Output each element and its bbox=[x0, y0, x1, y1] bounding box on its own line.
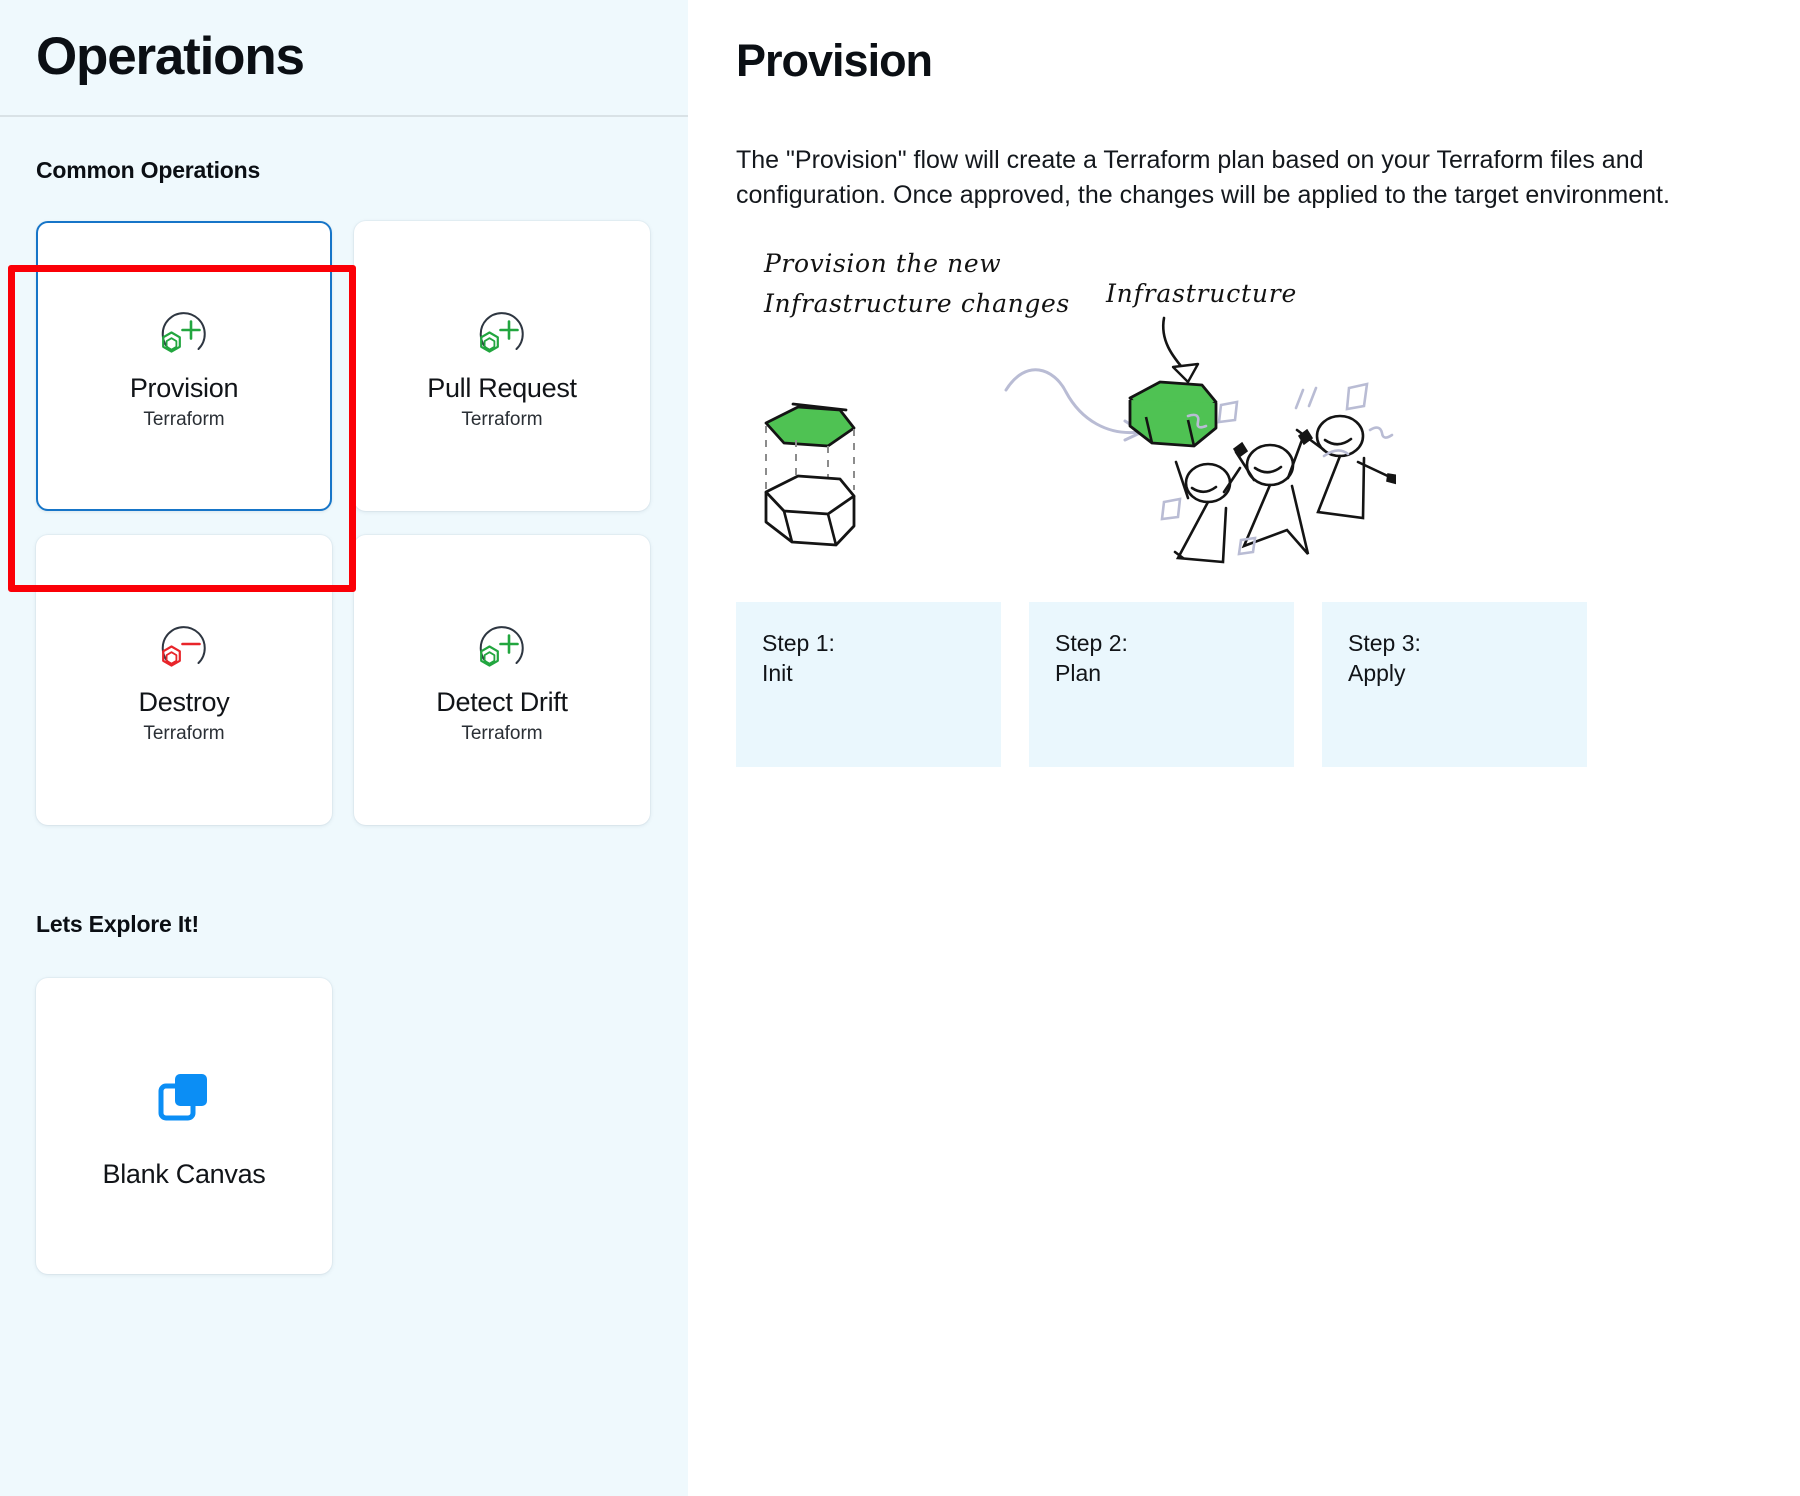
illustration-caption-right: Infrastructure bbox=[1105, 279, 1297, 308]
step-box-3: Step 3: Apply bbox=[1322, 602, 1587, 767]
step-label: Step 3: bbox=[1348, 628, 1561, 658]
app-root: Operations Common Operations Pro bbox=[0, 0, 1800, 1496]
sidebar-header: Operations bbox=[0, 0, 688, 115]
operations-sidebar: Operations Common Operations Pro bbox=[0, 0, 688, 1496]
hexagon-minus-circle-icon bbox=[153, 616, 215, 678]
card-title: Blank Canvas bbox=[103, 1159, 266, 1190]
common-operations-grid: Provision Terraform Pull Request T bbox=[36, 221, 650, 825]
detail-title: Provision bbox=[736, 36, 1760, 86]
step-box-2: Step 2: Plan bbox=[1029, 602, 1294, 767]
hexagon-plus-circle-icon bbox=[153, 302, 215, 364]
sidebar-body: Common Operations Provision Terraform bbox=[0, 117, 688, 1274]
steps-row: Step 1: Init Step 2: Plan Step 3: Apply bbox=[736, 602, 1760, 767]
step-name: Plan bbox=[1055, 658, 1268, 688]
card-subtitle: Terraform bbox=[143, 723, 224, 745]
step-box-1: Step 1: Init bbox=[736, 602, 1001, 767]
card-title: Pull Request bbox=[427, 372, 577, 404]
detail-description: The "Provision" flow will create a Terra… bbox=[736, 143, 1760, 214]
operation-card-blank-canvas[interactable]: Blank Canvas bbox=[36, 978, 332, 1274]
celebrating-people-illustration bbox=[1175, 416, 1396, 562]
operation-card-pull-request[interactable]: Pull Request Terraform bbox=[354, 221, 650, 511]
illustration-caption-left-line2: Infrastructure changes bbox=[763, 289, 1070, 318]
card-subtitle: Terraform bbox=[461, 723, 542, 745]
explore-grid: Blank Canvas bbox=[36, 978, 650, 1274]
hexagon-plus-circle-icon bbox=[471, 302, 533, 364]
step-name: Init bbox=[762, 658, 975, 688]
card-title: Destroy bbox=[139, 686, 230, 718]
hexagon-prism-right bbox=[1130, 382, 1216, 446]
stacked-squares-icon bbox=[151, 1063, 217, 1129]
section-label-common-operations: Common Operations bbox=[36, 157, 652, 184]
card-subtitle: Terraform bbox=[461, 409, 542, 431]
hexagon-prism-left bbox=[766, 404, 854, 545]
operation-card-detect-drift[interactable]: Detect Drift Terraform bbox=[354, 535, 650, 825]
step-label: Step 1: bbox=[762, 628, 975, 658]
card-title: Detect Drift bbox=[436, 686, 567, 718]
step-label: Step 2: bbox=[1055, 628, 1268, 658]
detail-panel: Provision The "Provision" flow will crea… bbox=[688, 0, 1800, 1496]
illustration-caption-left-line1: Provision the new bbox=[763, 249, 1001, 278]
section-label-lets-explore-it: Lets Explore It! bbox=[36, 911, 652, 938]
page-title: Operations bbox=[36, 28, 652, 85]
provision-illustration: Provision the new Infrastructure changes… bbox=[736, 240, 1396, 570]
operation-card-destroy[interactable]: Destroy Terraform bbox=[36, 535, 332, 825]
hexagon-plus-circle-icon bbox=[471, 616, 533, 678]
card-title: Provision bbox=[130, 372, 238, 404]
card-subtitle: Terraform bbox=[143, 409, 224, 431]
step-name: Apply bbox=[1348, 658, 1561, 688]
operation-card-provision[interactable]: Provision Terraform bbox=[36, 221, 332, 511]
